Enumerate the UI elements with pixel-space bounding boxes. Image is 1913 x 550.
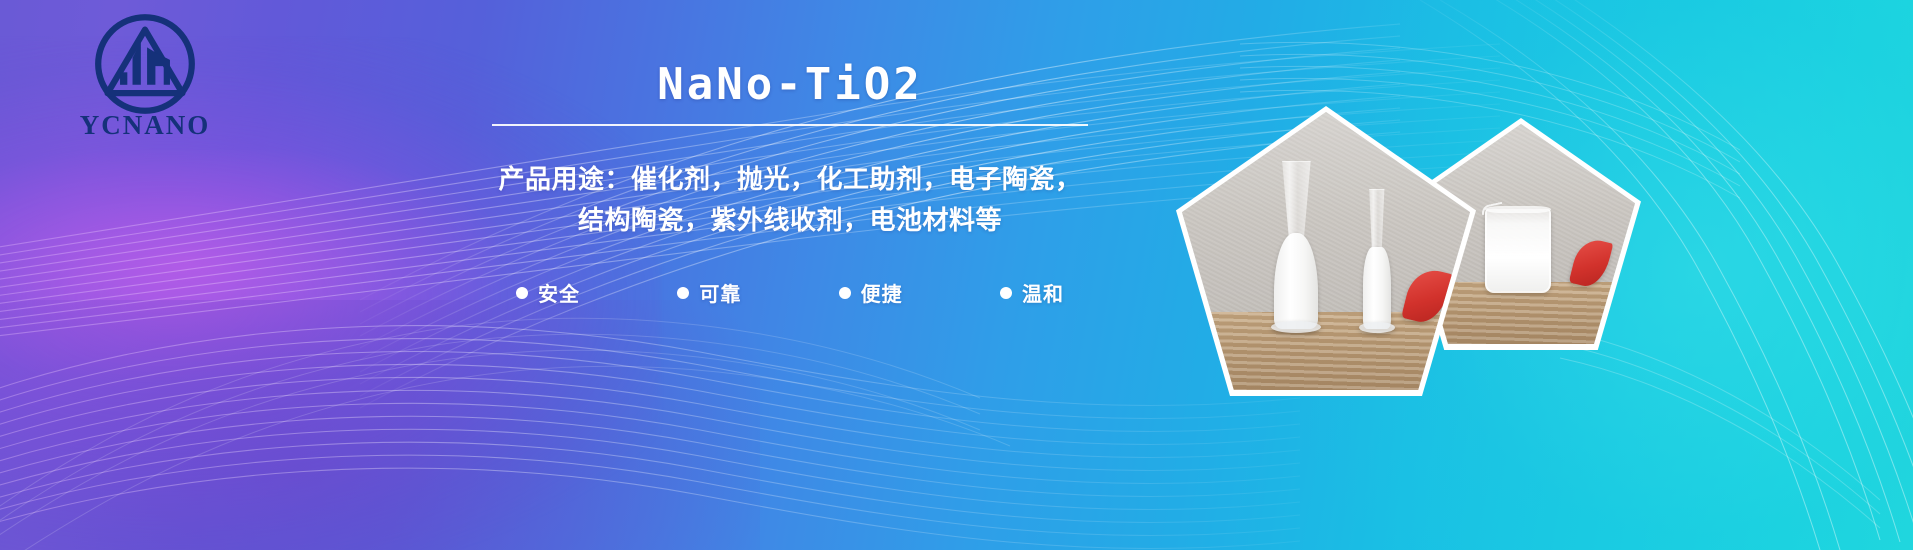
description-line-2: 结构陶瓷，紫外线收剂，电池材料等 — [470, 200, 1110, 241]
description-line-1: 产品用途：催化剂，抛光，化工助剂，电子陶瓷， — [470, 159, 1110, 200]
feature-label: 温和 — [1022, 278, 1064, 307]
photo-table-surface — [1182, 312, 1470, 390]
feature-label: 可靠 — [699, 278, 741, 307]
dot-icon — [516, 287, 528, 299]
brand-logo[interactable]: YCNANO — [55, 12, 235, 157]
feature-list: 安全 可靠 便捷 温和 — [470, 278, 1110, 307]
short-vase-object — [1355, 189, 1399, 329]
beaker-object — [1485, 209, 1551, 293]
feature-label: 安全 — [538, 278, 580, 307]
feature-item-convenient: 便捷 — [839, 278, 903, 307]
feature-label: 便捷 — [861, 278, 903, 307]
feature-item-mild: 温和 — [1000, 278, 1064, 307]
ycnano-mountain-emblem-icon — [93, 12, 197, 116]
magenta-glow — [0, 150, 500, 380]
feature-item-reliable: 可靠 — [677, 278, 741, 307]
white-vases-photo — [1176, 106, 1476, 396]
brand-wordmark: YCNANO — [80, 112, 211, 139]
feature-item-safe: 安全 — [516, 278, 580, 307]
dot-icon — [1000, 287, 1012, 299]
product-title: NaNo-TiO2 — [470, 62, 1110, 108]
dot-icon — [839, 287, 851, 299]
dot-icon — [677, 287, 689, 299]
tall-vase-object — [1268, 161, 1324, 329]
promo-banner: YCNANO NaNo-TiO2 产品用途：催化剂，抛光，化工助剂，电子陶瓷， … — [0, 0, 1913, 550]
deep-violet-glow — [0, 300, 760, 550]
product-photo-group — [1133, 0, 1913, 550]
product-description: 产品用途：催化剂，抛光，化工助剂，电子陶瓷， 结构陶瓷，紫外线收剂，电池材料等 — [470, 159, 1110, 241]
banner-copy: NaNo-TiO2 产品用途：催化剂，抛光，化工助剂，电子陶瓷， 结构陶瓷，紫外… — [470, 62, 1110, 307]
title-divider — [492, 124, 1088, 126]
